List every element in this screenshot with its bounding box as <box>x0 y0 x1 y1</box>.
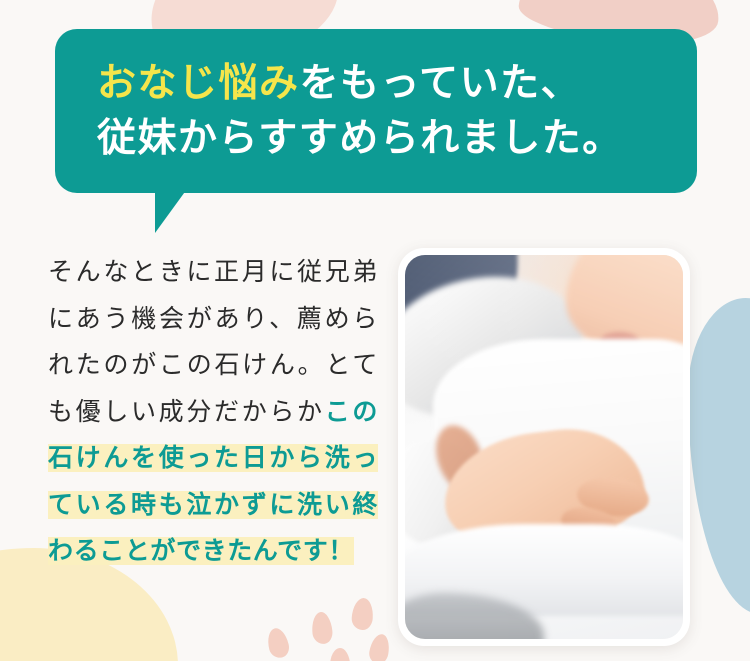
petal-decoration <box>310 611 333 645</box>
speech-bubble-tail <box>155 189 187 233</box>
petal-decoration <box>368 633 392 661</box>
baby-hand-photo <box>405 255 683 639</box>
petal-decoration <box>265 626 292 660</box>
headline-line-2: 従妹からすすめられました。 <box>97 111 697 166</box>
petal-decoration <box>330 648 351 661</box>
headline-highlight-text: おなじ悩み <box>97 62 300 105</box>
speech-bubble-body: おなじ悩みをもっていた、 従妹からすすめられました。 <box>55 29 697 193</box>
testimonial-emphasis-marked: 石けんを使った日から洗っている時も泣かずに洗い終わることができたんです！ <box>48 444 378 565</box>
testimonial-copy-block: そんなときに正月に従兄弟にあう機会があり、薦められたのがこの石けん。とても優しい… <box>48 249 378 575</box>
headline-speech-bubble: おなじ悩みをもっていた、 従妹からすすめられました。 <box>55 29 697 193</box>
headline-line-1-rest: をもっていた、 <box>300 62 582 105</box>
testimonial-paragraph: そんなときに正月に従兄弟にあう機会があり、薦められたのがこの石けん。とても優しい… <box>48 249 378 575</box>
photo-gloss-overlay <box>405 255 683 639</box>
testimonial-emphasis-lead: この <box>325 398 378 426</box>
testimonial-section: おなじ悩みをもっていた、 従妹からすすめられました。 そんなときに正月に従兄弟に… <box>0 0 750 661</box>
petal-decoration <box>351 597 374 630</box>
testimonial-photo-frame <box>398 248 690 646</box>
blue-blob-right-decoration <box>688 298 750 614</box>
headline-line-1: おなじ悩みをもっていた、 <box>97 56 697 111</box>
